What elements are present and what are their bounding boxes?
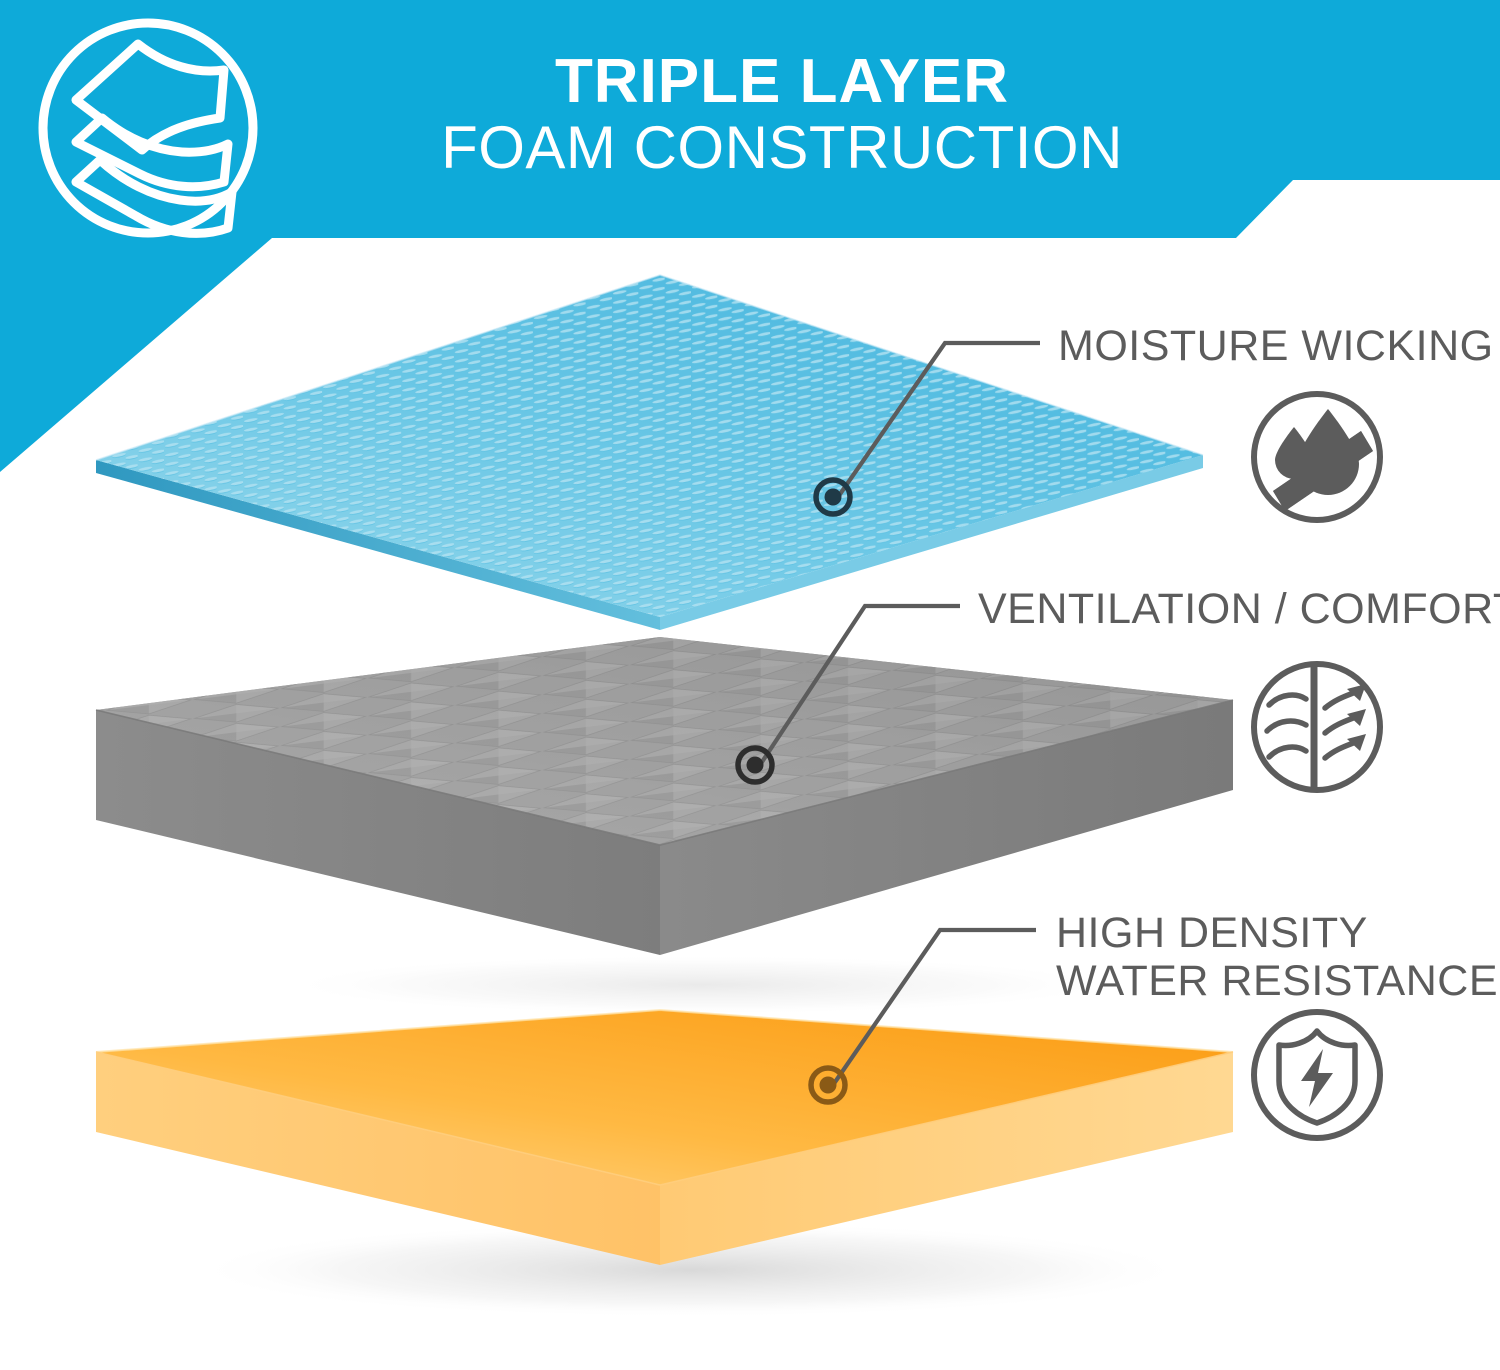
triple-layer-foam-diagram: TRIPLE LAYER FOAM CONSTRUCTION MOISTURE … [0,0,1500,1370]
infographic-canvas: TRIPLE LAYER FOAM CONSTRUCTION MOISTURE … [0,0,1500,1370]
airflow-ventilation-icon [1254,664,1380,790]
callout-label-moisture-wicking-line1: MOISTURE WICKING [1058,322,1494,370]
water-repellent-droplets-icon [1254,394,1380,520]
callout-label-high-density-line2: WATER RESISTANCE [1056,957,1498,1005]
callout-label-ventilation-comfort-line1: VENTILATION / COMFORT [978,585,1500,633]
header-title-line2: FOAM CONSTRUCTION [441,114,1123,181]
layer-bottom-high-density [96,1010,1233,1265]
callout-label-high-density-line1: HIGH DENSITY [1056,909,1368,957]
shield-bolt-icon [1254,1012,1380,1138]
header-title-line1: TRIPLE LAYER [555,47,1009,116]
middle-layer-shadow [280,955,1120,1015]
